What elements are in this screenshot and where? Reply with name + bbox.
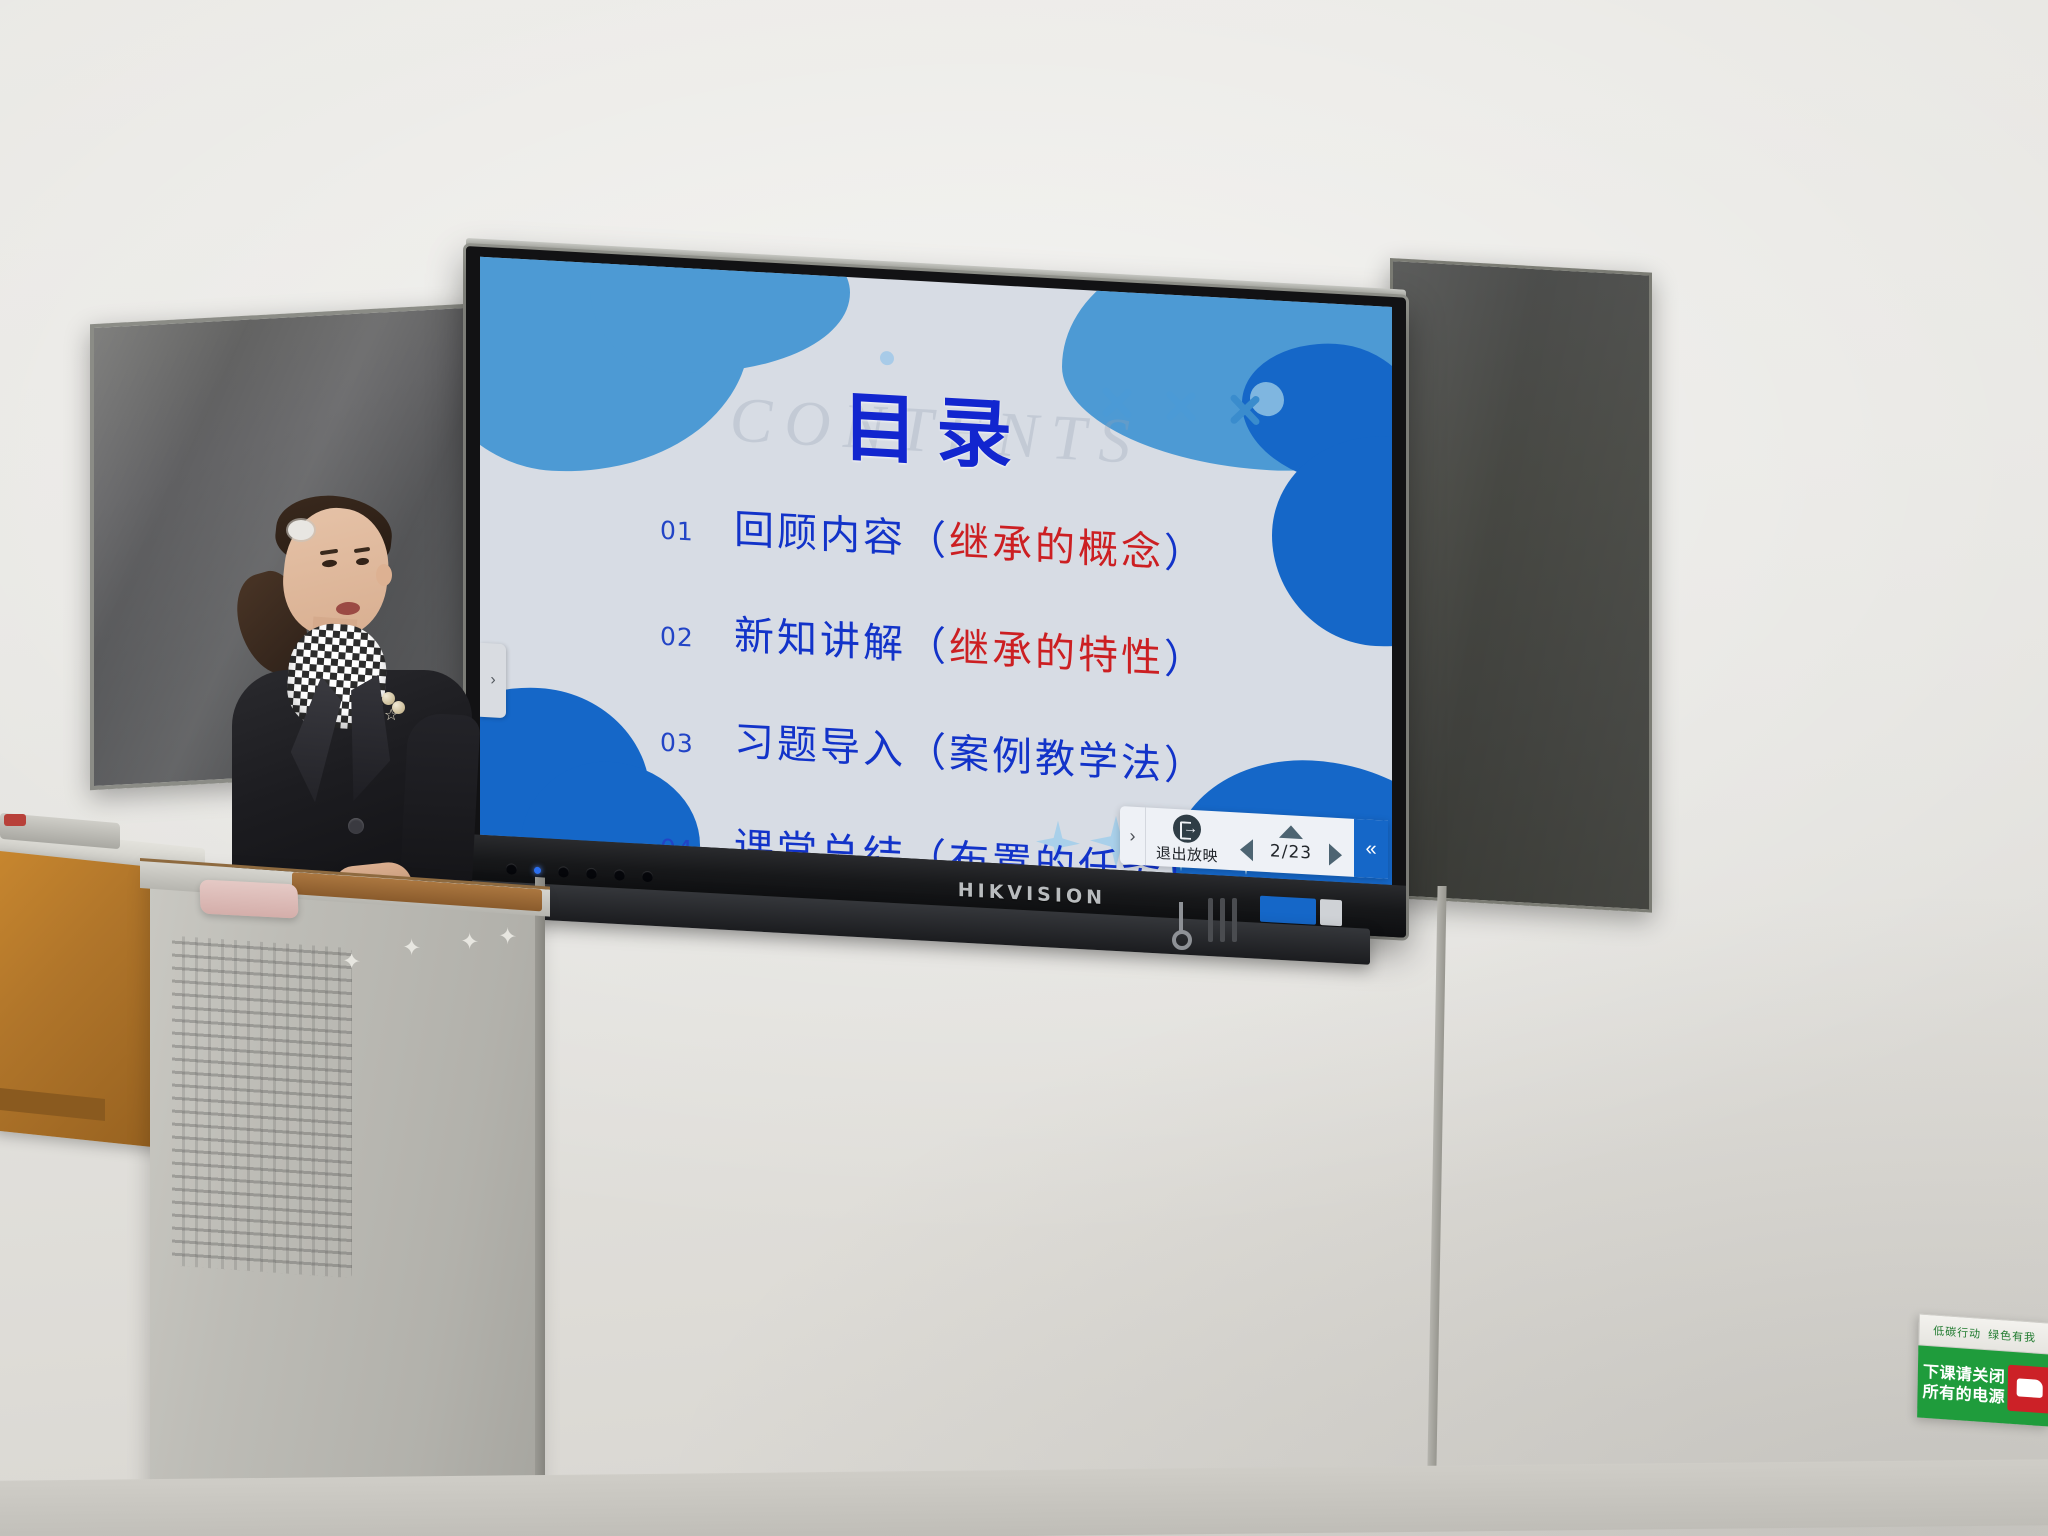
power-led-icon [534,867,541,874]
chin-accent-blue [1260,896,1316,925]
chevron-double-left-icon: « [1365,837,1376,861]
teacher-figure: ☆ [226,498,476,898]
toc-item-prefix: 新知讲解（ [734,613,949,671]
smart-display[interactable]: CONTENTS 目录 01 回顾内容（继承的概念） 02 新知讲解（继承的特性… [466,246,1406,938]
toc-item-number: 02 [660,622,696,653]
display-bezel: CONTENTS 目录 01 回顾内容（继承的概念） 02 新知讲解（继承的特性… [466,246,1406,938]
chalk-holder [1208,898,1237,942]
desk-red-object [4,814,26,826]
lectern-speaker-grille [172,936,352,1279]
display-brand-logo: HIKVISION [958,879,1106,909]
toc-item-prefix: 习题导入（ [734,719,949,777]
power-saving-sign: 低碳行动 绿色有我 下课请关闭 所有的电源 [1917,1313,2048,1426]
ear [376,564,392,586]
exit-presentation-label: 退出放映 [1156,841,1218,865]
sparkle-print-icon: ✦ [402,934,421,962]
previous-slide-button[interactable] [1240,839,1253,862]
hair-tie [288,520,314,540]
chalkboard-right-glare [1393,261,1649,909]
chevron-right-icon: › [1129,825,1135,846]
list-item[interactable]: 02 新知讲解（继承的特性） [600,595,1322,693]
toc-item-label: 习题导入（案例教学法） [734,709,1207,793]
hand-switch-icon [2007,1365,2048,1414]
toc-item-number: 01 [660,516,696,547]
toc-item-prefix: 回顾内容（ [734,507,949,565]
toc-item-highlight: 继承的特性 [949,625,1164,683]
sparkle-print-icon: ✦ [460,928,479,956]
expand-panel-button[interactable]: › [1120,806,1146,865]
presentation-screen[interactable]: CONTENTS 目录 01 回顾内容（继承的概念） 02 新知讲解（继承的特性… [480,257,1392,885]
sign-line-2: 所有的电源 [1922,1383,2005,1407]
sign-header-left: 低碳行动 [1933,1322,1981,1341]
page-indicator: 2/23 [1269,841,1313,863]
slide-navigation[interactable]: 2/23 [1228,812,1354,877]
chalkboard-right [1390,258,1652,913]
sign-text-lines: 下课请关闭 所有的电源 [1922,1363,2005,1407]
collapse-bar-button[interactable]: « [1354,819,1388,879]
sparkle-print-icon: ✦ [342,947,361,975]
toc-item-number: 03 [660,728,696,759]
hook-stem [1179,902,1183,932]
port-icon [586,868,597,880]
blazer-button [348,818,364,834]
toc-item-label: 回顾内容（继承的概念） [734,497,1207,581]
lectern-side-edge [535,877,545,1536]
toc-item-suffix: 案例教学法） [949,731,1207,791]
next-slide-button[interactable] [1329,843,1342,866]
slide-pager[interactable]: 2/23 [1240,839,1342,867]
exit-presentation-button[interactable]: 退出放映 [1146,807,1228,870]
chalk-stick [1232,898,1237,942]
sign-header-right: 绿色有我 [1988,1326,2036,1345]
hook-ring-icon [1172,930,1192,950]
toc-item-suffix: ） [1164,636,1207,684]
port-icon [558,866,569,878]
small-dot-icon [880,351,894,366]
chin-ports-group [506,863,653,882]
lectern: ✦ ✦ ✦ ✦ [150,868,545,1536]
port-icon [506,863,517,875]
chevron-right-icon: › [490,671,495,689]
sign-body: 下课请关闭 所有的电源 [1917,1345,2048,1426]
port-icon [642,871,653,883]
port-icon [614,869,625,881]
support-pole [1426,886,1446,1526]
wall-hook [1172,902,1188,950]
brooch-star-icon: ☆ [384,708,398,724]
cloth-on-lectern [199,879,298,918]
list-item[interactable]: 01 回顾内容（继承的概念） [600,489,1322,587]
page-title-text: 目录 [842,365,1030,485]
list-item[interactable]: 03 习题导入（案例教学法） [600,701,1322,799]
arm-right [399,712,480,898]
sparkle-print-icon: ✦ [498,922,517,950]
toc-item-highlight: 继承的概念 [949,519,1164,577]
brooch-pin: ☆ [382,692,406,722]
exit-presentation-icon [1173,813,1201,843]
triangle-up-icon[interactable] [1279,825,1303,839]
chin-accent-grey [1320,899,1342,926]
screen-side-tab-button[interactable]: › [480,643,506,718]
chalk-stick [1220,898,1225,942]
chalk-stick [1208,898,1213,942]
toc-item-suffix: ） [1164,530,1207,578]
toc-item-label: 新知讲解（继承的特性） [734,603,1207,687]
classroom-scene: CONTENTS 目录 01 回顾内容（继承的概念） 02 新知讲解（继承的特性… [0,0,2048,1536]
